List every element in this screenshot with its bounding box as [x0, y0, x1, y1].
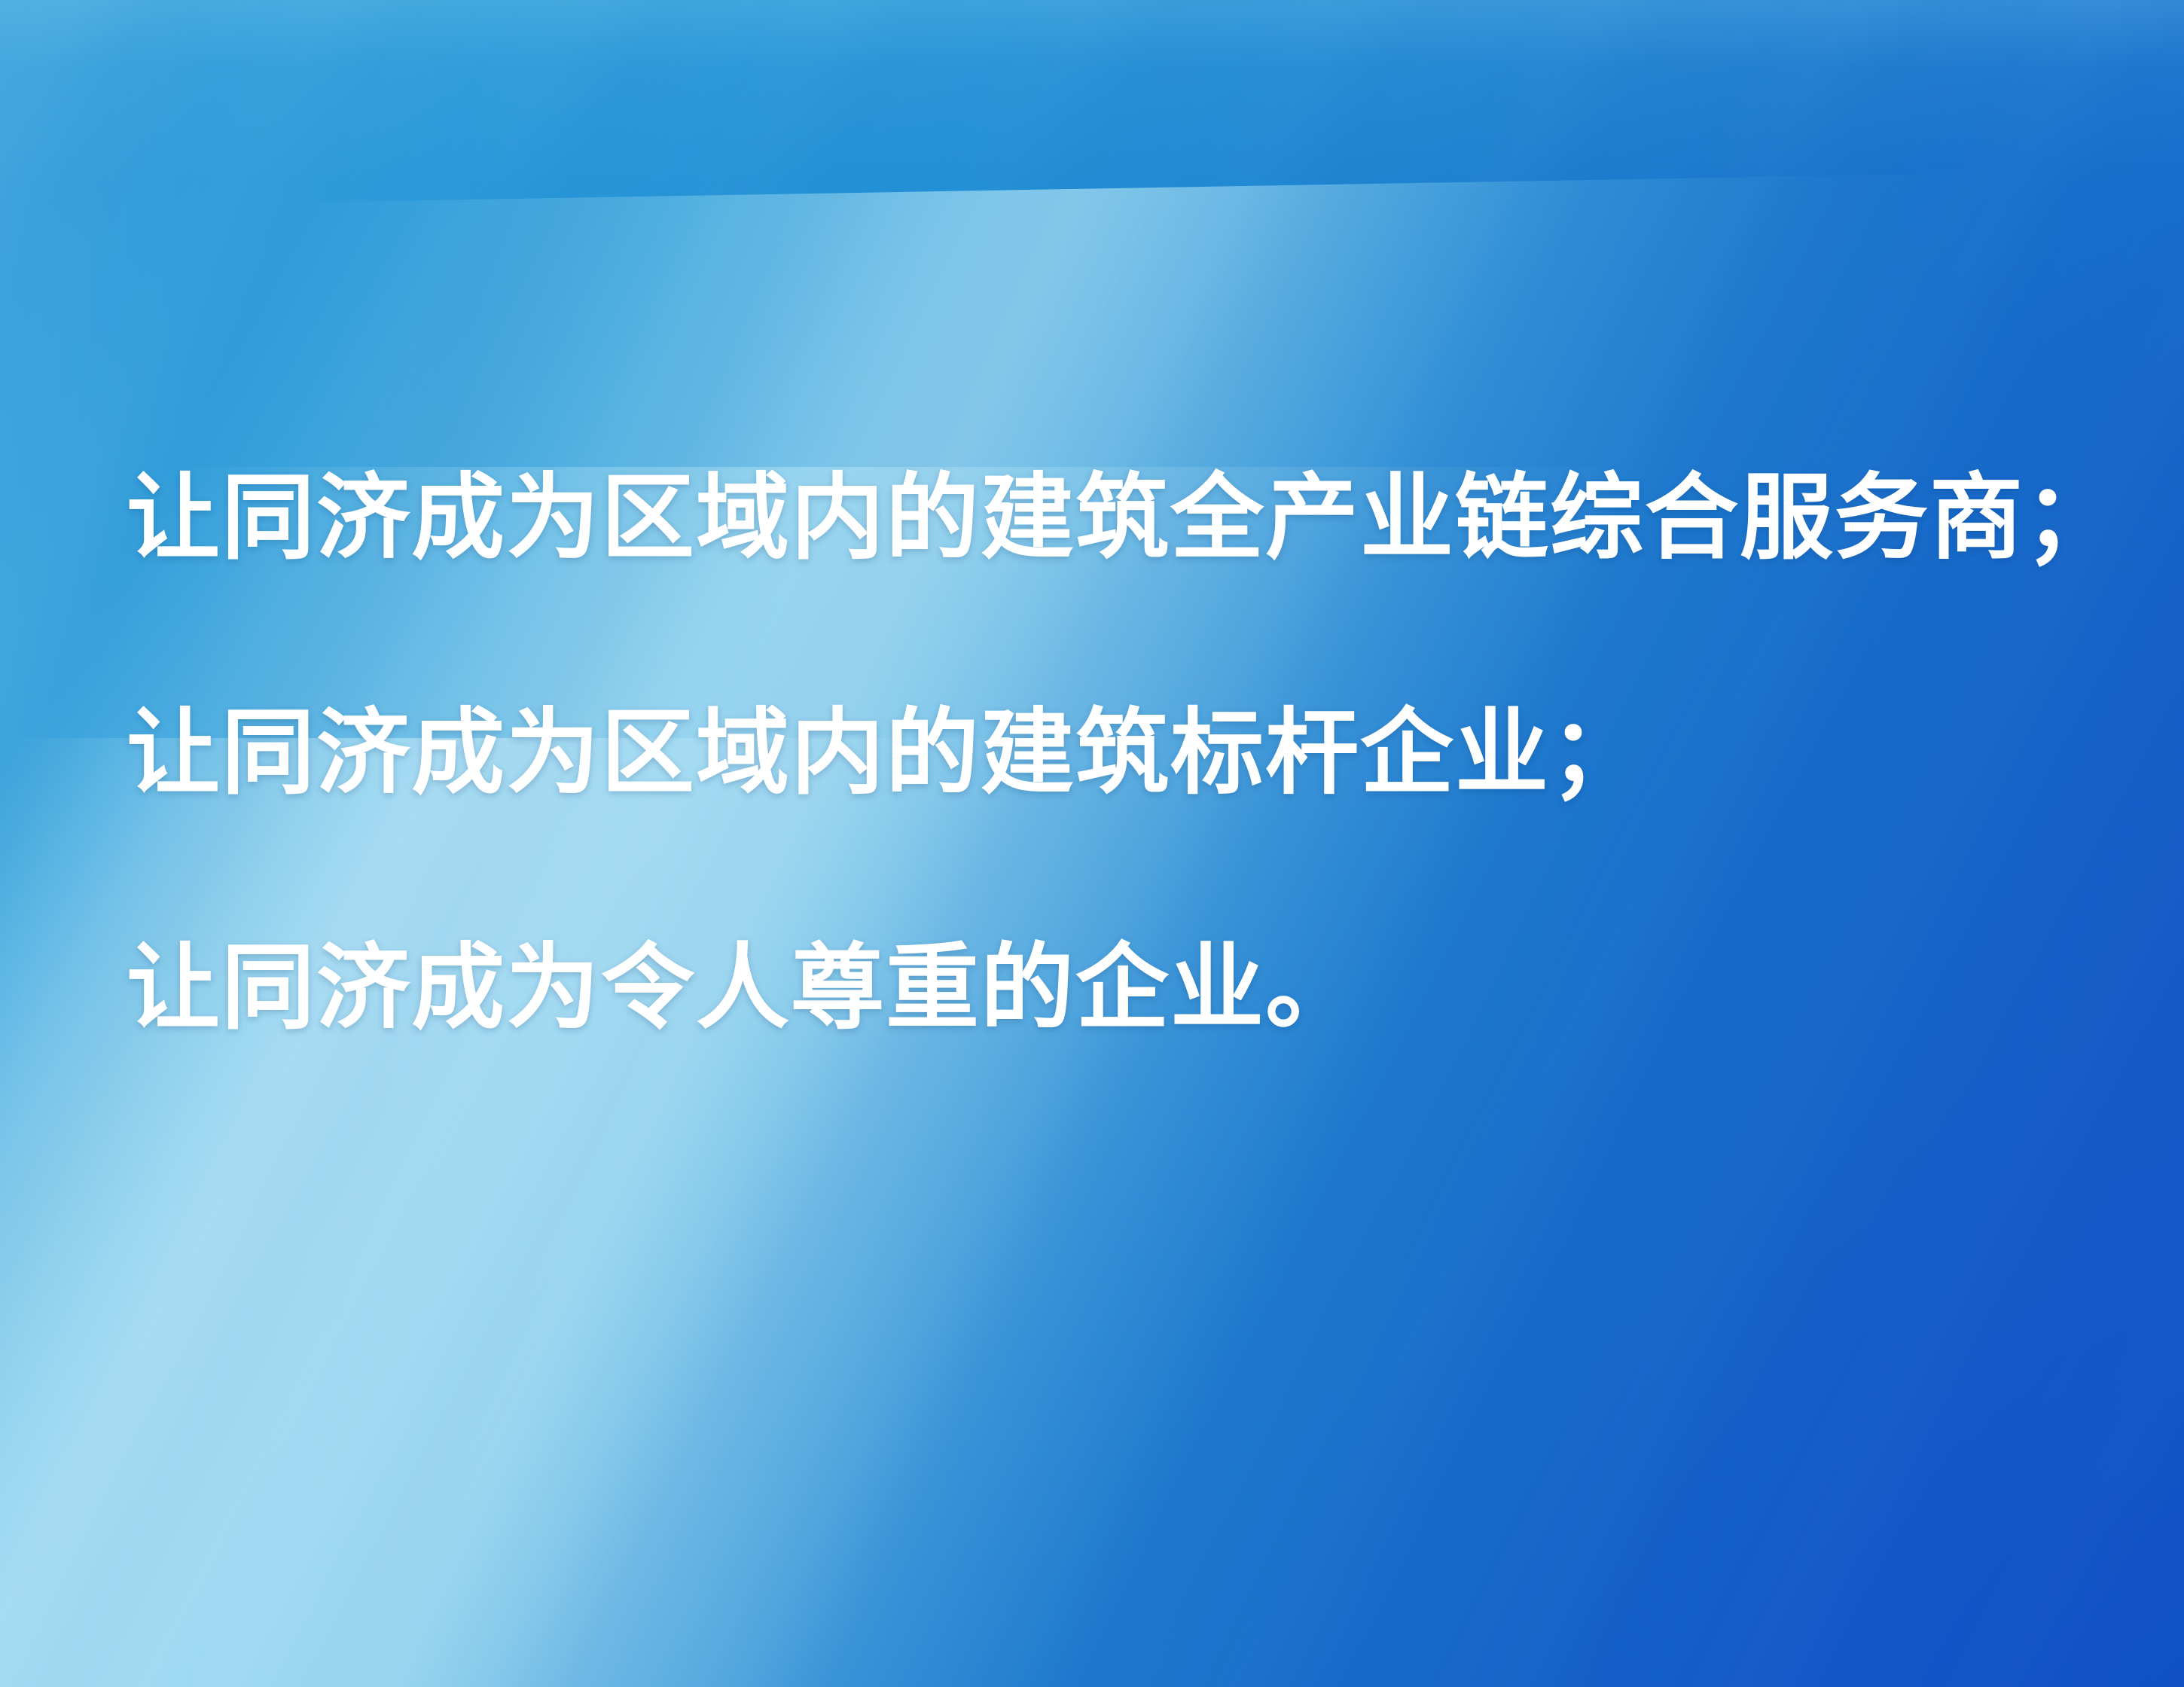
vision-statement-line-2: 让同济成为区域内的建筑标杆企业；: [127, 706, 1645, 800]
vision-statement-line-1: 让同济成为区域内的建筑全产业链综合服务商；: [127, 471, 2119, 565]
presentation-slide: 让同济成为区域内的建筑全产业链综合服务商； 让同济成为区域内的建筑标杆企业； 让…: [0, 0, 2184, 1687]
slide-text-block: 让同济成为区域内的建筑全产业链综合服务商； 让同济成为区域内的建筑标杆企业； 让…: [0, 0, 2184, 1687]
vision-statement-line-3: 让同济成为令人尊重的企业。: [127, 941, 1360, 1035]
